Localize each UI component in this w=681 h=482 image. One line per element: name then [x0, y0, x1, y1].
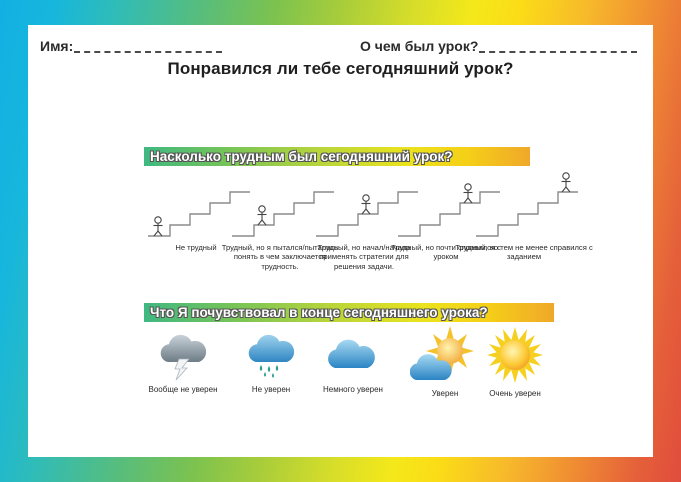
name-label: Имя:	[40, 39, 73, 53]
stair-label-5: Трудный, но тем не менее справился с зад…	[454, 243, 594, 262]
worksheet-page: Имя: О чем был урок? Понравился ли тебе …	[0, 0, 681, 482]
worksheet-sheet: Имя: О чем был урок? Понравился ли тебе …	[28, 25, 653, 457]
name-field[interactable]: Имя:	[40, 39, 222, 53]
cloud-lightning-icon	[152, 330, 214, 382]
staircase-5-icon	[454, 170, 594, 242]
feeling-item-5[interactable]: Очень уверен	[460, 326, 570, 399]
feeling-scale: Вообще не уверен Не уверен	[28, 330, 653, 430]
feeling-label-5: Очень уверен	[460, 389, 570, 399]
stick-figure-1	[154, 217, 163, 236]
stick-figure-5	[562, 173, 571, 192]
stick-figure-3	[362, 195, 371, 214]
sun-icon	[484, 326, 546, 386]
page-title: Понравился ли тебе сегодняшний урок?	[28, 59, 653, 79]
worksheet-header: Имя: О чем был урок? Понравился ли тебе …	[28, 25, 653, 85]
difficulty-scale: Не трудный Трудный, но я пытался/пыталас…	[28, 170, 653, 300]
difficulty-banner: Насколько трудным был сегодняшний урок?	[144, 147, 530, 166]
stick-figure-2	[258, 206, 267, 225]
topic-field[interactable]: О чем был урок?	[360, 39, 637, 53]
name-input-line[interactable]	[74, 42, 222, 53]
topic-input-line[interactable]	[479, 42, 637, 53]
feeling-banner: Что Я почувствовал в конце сегодняшнего …	[144, 303, 554, 322]
cloud-icon	[321, 332, 385, 382]
topic-label: О чем был урок?	[360, 39, 478, 53]
stair-item-5[interactable]: Трудный, но тем не менее справился с зад…	[454, 170, 594, 262]
cloud-rain-icon	[240, 330, 302, 382]
